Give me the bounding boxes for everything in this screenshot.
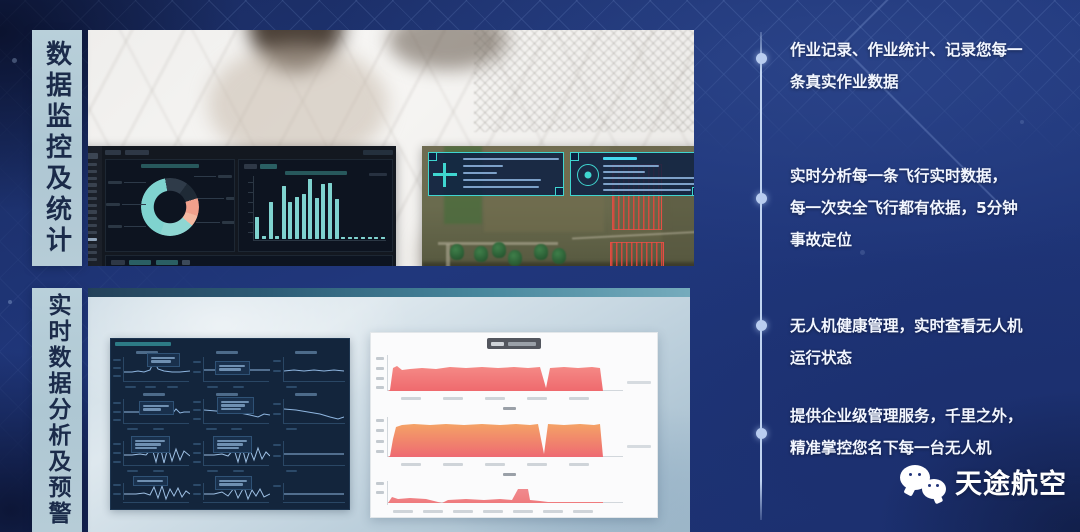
x-tick-label: [443, 397, 463, 400]
bar: [295, 197, 299, 239]
bar: [368, 237, 372, 239]
telemetry-chart-cell[interactable]: [113, 391, 191, 431]
y-tick-label: [113, 461, 121, 463]
x-tick-label: [125, 386, 136, 388]
bar: [348, 237, 352, 239]
x-tick-label: [233, 470, 244, 472]
text-line: 提供企业级管理服务，千里之外，: [790, 400, 1062, 432]
chart-panel-donut[interactable]: [105, 159, 235, 252]
y-tick-label: [376, 367, 384, 370]
aerial-flight-map[interactable]: [422, 146, 694, 266]
section-label-data-monitoring: 数据监控及统计: [32, 30, 82, 266]
donut-label: [222, 221, 235, 224]
chart-title: [295, 393, 317, 396]
x-tick-label: [527, 463, 547, 466]
sidebar-item[interactable]: [88, 210, 97, 213]
y-tick-label: [193, 461, 201, 463]
hud-field-row: [463, 172, 497, 174]
donut-leader-line: [122, 204, 146, 205]
timeline-text-1: 作业记录、作业统计、记录您每一 条真实作业数据: [790, 34, 1062, 98]
filter-button[interactable]: [111, 260, 125, 265]
chart-tooltip: [215, 361, 250, 375]
bar: [328, 183, 332, 239]
hud-corner-bracket: [555, 187, 564, 196]
donut-leader-line: [194, 176, 216, 177]
x-tick-label: [443, 463, 463, 466]
dashboard-row-upper: [105, 159, 393, 252]
timeline-dot-4[interactable]: [756, 428, 767, 439]
chart-axis-title: [503, 407, 516, 410]
x-tick-label: [233, 386, 244, 388]
sidebar-item[interactable]: [88, 177, 97, 180]
badge-icon: [491, 342, 504, 346]
y-tick-label: [193, 493, 201, 495]
hud-field-row: [603, 177, 694, 179]
y-tick-label: [113, 375, 121, 377]
drone-info-hud-panel[interactable]: [428, 152, 564, 196]
x-tick-label: [286, 386, 297, 388]
sidebar-item[interactable]: [88, 163, 97, 166]
chart-title: [143, 393, 165, 396]
chart-value-label: [627, 381, 651, 384]
y-tick-label: [193, 484, 201, 486]
x-tick-label: [145, 386, 156, 388]
area-chart-row-1[interactable]: [371, 353, 657, 403]
bar: [288, 202, 292, 238]
chart-title: [141, 164, 199, 168]
y-tick-label: [273, 370, 281, 372]
bar: [269, 202, 273, 239]
chart-tooltip: [215, 476, 252, 490]
x-tick-label: [167, 386, 178, 388]
y-tick-label: [193, 361, 201, 363]
donut-label: [106, 203, 120, 206]
decorative-dot: [1020, 120, 1024, 124]
telemetry-chart-cell[interactable]: [273, 475, 347, 507]
timeline-text-2: 实时分析每一条飞行实时数据， 每一次安全飞行都有依据，5分钟 事故定位: [790, 160, 1062, 256]
dashboard-body: [102, 146, 396, 266]
chart-title: [295, 351, 317, 354]
y-tick-label: [376, 450, 384, 453]
timeline-rail: [760, 32, 762, 520]
y-tick-label: [376, 491, 384, 494]
sidebar-header: [88, 153, 98, 159]
y-tick-label: [273, 360, 281, 362]
y-tick-label: [273, 485, 281, 487]
y-axis: [253, 176, 254, 241]
y-tick-label: [273, 444, 281, 446]
hud-field-row: [463, 179, 541, 181]
bar: [321, 184, 325, 239]
sidebar-item[interactable]: [88, 244, 97, 247]
timeline-dot-2[interactable]: [756, 193, 767, 204]
timeline-text-3: 无人机健康管理，实时查看无人机 运行状态: [790, 310, 1062, 374]
donut-label: [108, 181, 122, 184]
x-tick-label: [453, 510, 473, 513]
y-tick-label: [113, 493, 121, 495]
y-tick-label: [193, 418, 201, 420]
dashboard-sidebar[interactable]: [88, 146, 102, 266]
y-tick-label: [376, 377, 384, 380]
sidebar-item[interactable]: [88, 170, 97, 173]
search-button[interactable]: [182, 260, 190, 265]
bar: [255, 217, 259, 239]
sidebar-item[interactable]: [88, 190, 97, 193]
text-line: 实时分析每一条飞行实时数据，: [790, 160, 1062, 192]
x-tick-label: [423, 510, 443, 513]
section-media-data-monitoring: [88, 30, 694, 266]
telemetry-chart-cell[interactable]: [273, 433, 347, 473]
bar: [308, 179, 312, 239]
y-tick-label: [113, 452, 121, 454]
flight-params-hud-panel[interactable]: [570, 152, 694, 196]
sidebar-item-active[interactable]: [88, 238, 97, 241]
decorative-dot: [8, 300, 12, 304]
section-label-text: 数据监控及统计: [39, 40, 76, 257]
dashboard-row-lower: [105, 255, 393, 266]
hud-field-row: [463, 158, 559, 160]
text-line: 运行状态: [790, 342, 1062, 374]
x-tick-label: [485, 463, 505, 466]
export-button[interactable]: [363, 150, 393, 155]
y-tick-label: [193, 443, 201, 445]
decorative-dot: [12, 58, 17, 63]
x-tick-label: [206, 428, 217, 430]
tab-button[interactable]: [125, 150, 149, 155]
chart-tooltip: [213, 436, 252, 453]
section-media-realtime-analysis: [88, 288, 690, 532]
y-tick-label: [193, 371, 201, 373]
y-tick-label: [113, 402, 121, 404]
chart-panel-bar[interactable]: [238, 159, 393, 252]
hud-corner-bracket: [570, 152, 579, 161]
hud-field-row: [603, 165, 659, 167]
area-series-2: [388, 419, 603, 457]
x-tick-label: [485, 397, 505, 400]
telemetry-chart-cell[interactable]: [273, 349, 347, 389]
donut-leader-line: [124, 182, 146, 183]
text-line: 事故定位: [790, 224, 1062, 256]
bar: [335, 199, 339, 239]
x-tick-label: [573, 510, 593, 513]
section-label-text: 实时数据分析及预警: [40, 293, 74, 527]
x-tick-label: [513, 510, 533, 513]
y-tick-label: [273, 455, 281, 457]
y-tick-label: [193, 409, 201, 411]
telemetry-line-series: [284, 481, 344, 503]
bar: [341, 237, 345, 239]
chart-tooltip: [217, 397, 254, 414]
sidebar-item[interactable]: [88, 231, 97, 234]
telemetry-chart-cell[interactable]: [193, 349, 271, 389]
panel-top-accent-bar: [88, 288, 690, 297]
section-label-realtime-analysis: 实时数据分析及预警: [32, 288, 82, 532]
y-tick: [248, 192, 253, 193]
y-tick-label: [376, 357, 384, 360]
telemetry-chart-cell[interactable]: [113, 475, 191, 507]
map-tree: [534, 244, 548, 260]
text-line: 精准掌控您名下每一台无人机: [790, 432, 1062, 464]
sidebar-item[interactable]: [88, 183, 97, 186]
filter-button[interactable]: [129, 260, 151, 265]
y-tick-label: [113, 484, 121, 486]
filter-button[interactable]: [156, 260, 178, 265]
donut-label: [226, 197, 235, 200]
y-tick-label: [113, 367, 121, 369]
performance-area-chart-dashboard[interactable]: [370, 332, 658, 518]
bar: [282, 186, 286, 238]
text-line: 无人机健康管理，实时查看无人机: [790, 310, 1062, 342]
bar: [302, 194, 306, 239]
x-tick-label: [543, 510, 563, 513]
donut-label: [218, 175, 232, 178]
bar: [262, 236, 266, 239]
chart-tooltip: [139, 401, 174, 415]
y-tick-label: [376, 482, 384, 485]
y-tick-label: [376, 429, 384, 432]
x-tick-label: [527, 397, 547, 400]
x-tick-label: [401, 397, 421, 400]
flight-path-overlay: [610, 242, 664, 266]
target-pin-icon: [577, 164, 599, 186]
map-tree: [552, 248, 566, 264]
dashboard-header-label: [115, 342, 171, 346]
bar: [361, 237, 365, 239]
filter-button[interactable]: [244, 164, 257, 169]
y-tick-label: [113, 359, 121, 361]
timeline-text-4: 提供企业级管理服务，千里之外， 精准掌控您名下每一台无人机: [790, 400, 1062, 464]
y-tick-label: [273, 413, 281, 415]
area-series-3: [388, 481, 603, 503]
x-tick-label: [569, 397, 589, 400]
chart-tooltip: [133, 476, 168, 486]
timeline-dot-1[interactable]: [756, 53, 767, 64]
x-axis: [253, 240, 386, 241]
bar: [275, 236, 279, 239]
map-tree: [474, 246, 488, 262]
text-line: 每一次安全飞行都有依据，5分钟: [790, 192, 1062, 224]
telemetry-line-series: [284, 442, 344, 466]
photo-fence-mesh: [474, 30, 694, 132]
slide-canvas: 数据监控及统计 实时数据分析及预警 作业记录、作业统计、记录您每一 条真实作业数…: [0, 0, 1080, 532]
y-tick: [248, 232, 253, 233]
hud-corner-bracket: [428, 152, 437, 161]
x-tick-label: [393, 510, 413, 513]
donut-leader-line: [124, 226, 146, 227]
hud-field-row: [603, 189, 691, 191]
y-tick-label: [113, 419, 121, 421]
timeline-dot-3[interactable]: [756, 320, 767, 331]
area-chart-row-2[interactable]: [371, 415, 657, 469]
sidebar-item[interactable]: [88, 217, 97, 220]
map-field-parcel: [662, 186, 694, 266]
bar: [354, 237, 358, 239]
telemetry-line-series: [284, 400, 344, 424]
telemetry-chart-cell[interactable]: [113, 349, 191, 389]
x-tick-label: [153, 470, 164, 472]
brand-watermark: 天途航空: [900, 462, 1067, 501]
text-line: 条真实作业数据: [790, 66, 1062, 98]
telemetry-chart-cell[interactable]: [113, 433, 191, 473]
sidebar-item[interactable]: [88, 197, 97, 200]
brand-name: 天途航空: [955, 462, 1067, 501]
sidebar-item[interactable]: [88, 204, 97, 207]
y-tick-label: [193, 452, 201, 454]
x-tick-label: [286, 470, 297, 472]
chart-value-label: [627, 445, 651, 448]
y-tick-label: [376, 440, 384, 443]
hud-field-row: [603, 183, 694, 185]
y-tick: [248, 222, 253, 223]
y-tick: [248, 202, 253, 203]
y-tick: [248, 182, 253, 183]
chart-title: [216, 393, 238, 396]
chart-tooltip: [147, 353, 180, 367]
map-tree: [508, 250, 522, 266]
chart-legend-badge[interactable]: [487, 338, 541, 349]
donut-leader-line: [198, 198, 224, 199]
hud-field-row: [463, 165, 503, 167]
donut-label: [108, 225, 122, 228]
sidebar-item[interactable]: [88, 251, 97, 254]
hud-field-row: [603, 171, 645, 173]
chart-panel-horizontal-bar[interactable]: [105, 255, 393, 266]
filter-button-active[interactable]: [260, 164, 277, 169]
dashboard-toolbar: [105, 149, 393, 156]
telemetry-line-series: [284, 358, 344, 382]
telemetry-chart-cell[interactable]: [193, 475, 271, 507]
wechat-logo-icon: [900, 465, 946, 499]
tab-button[interactable]: [105, 150, 121, 155]
drone-crosshair-icon: [433, 163, 457, 187]
x-tick-label: [286, 428, 297, 430]
chart-title: [216, 351, 238, 354]
hud-corner-bracket: [692, 187, 694, 196]
text-line: 作业记录、作业统计、记录您每一: [790, 34, 1062, 66]
x-tick-label: [401, 463, 421, 466]
bar: [374, 237, 378, 239]
chart-axis-title: [503, 473, 516, 476]
telemetry-chart-cell[interactable]: [193, 391, 271, 431]
hud-field-row: [463, 186, 539, 188]
bar-series: [255, 175, 385, 239]
x-tick-label: [569, 463, 589, 466]
y-tick-label: [113, 411, 121, 413]
sidebar-item[interactable]: [88, 258, 97, 261]
x-tick-label: [153, 428, 164, 430]
y-tick-label: [113, 443, 121, 445]
map-tree: [492, 242, 506, 258]
y-tick-label: [376, 419, 384, 422]
y-tick-label: [376, 386, 384, 389]
telemetry-chart-cell[interactable]: [193, 433, 271, 473]
sidebar-item[interactable]: [88, 224, 97, 227]
area-series-1: [388, 357, 603, 391]
hud-panel-title: [603, 157, 637, 160]
donut-leader-line: [196, 222, 220, 223]
donut-chart: [141, 178, 199, 236]
y-tick-label: [273, 403, 281, 405]
analytics-dashboard-screenshot: [88, 146, 396, 266]
badge-label: [508, 342, 536, 346]
x-tick-label: [207, 386, 218, 388]
x-tick-label: [207, 470, 218, 472]
x-tick-label: [483, 510, 503, 513]
wechat-bubble-small: [922, 479, 946, 499]
area-chart-row-3[interactable]: [371, 479, 657, 517]
y-tick: [248, 212, 253, 213]
telemetry-chart-cell[interactable]: [273, 391, 347, 431]
x-tick-label: [231, 428, 242, 430]
y-tick-label: [193, 401, 201, 403]
bar: [381, 237, 385, 239]
telemetry-grid-dashboard[interactable]: [110, 338, 350, 510]
chart-tooltip: [131, 436, 170, 453]
x-tick-label: [127, 428, 138, 430]
map-tree: [450, 244, 464, 260]
x-tick-label: [127, 470, 138, 472]
bar: [315, 198, 319, 239]
